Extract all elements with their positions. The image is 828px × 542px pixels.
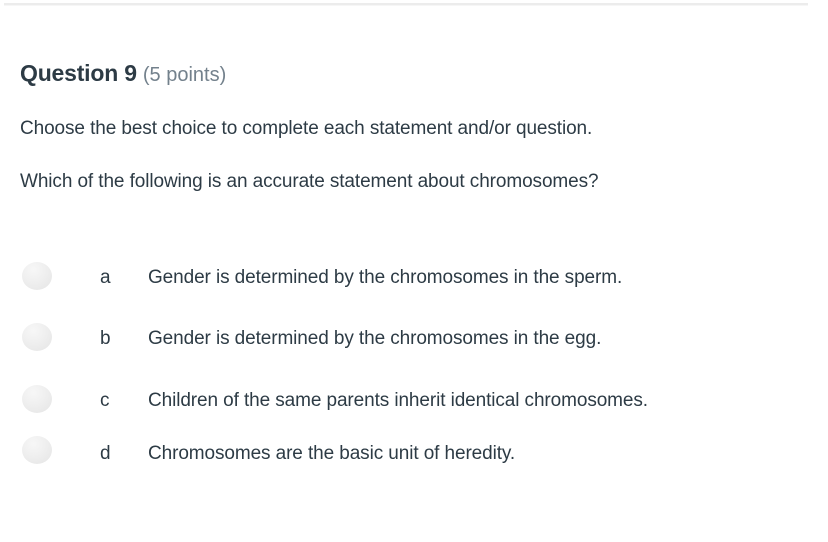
answer-option-a[interactable]: a Gender is determined by the chromosome… [0,256,828,301]
question-points: (5 points) [143,64,226,86]
radio-unselected-icon[interactable] [22,262,52,290]
answer-text-b[interactable]: Gender is determined by the chromosomes … [148,317,809,353]
radio-unselected-icon[interactable] [22,385,52,413]
top-divider-shadow [4,5,808,6]
answer-option-c[interactable]: c Children of the same parents inherit i… [0,379,828,424]
radio-unselected-icon[interactable] [22,436,52,464]
question-title: Question 9 [20,60,137,86]
answer-letter-d: d [52,432,148,467]
radio-cell-a[interactable] [0,256,52,290]
answer-text-a[interactable]: Gender is determined by the chromosomes … [148,256,809,292]
radio-unselected-icon[interactable] [22,323,52,351]
question-prompt: Which of the following is an accurate st… [20,169,816,195]
answer-option-b[interactable]: b Gender is determined by the chromosome… [0,317,828,362]
answer-text-c[interactable]: Children of the same parents inherit ide… [148,379,809,415]
answer-options-list: a Gender is determined by the chromosome… [0,256,828,477]
question-instructions: Choose the best choice to complete each … [20,116,816,142]
radio-cell-c[interactable] [0,379,52,413]
answer-option-d[interactable]: d Chromosomes are the basic unit of here… [0,432,828,477]
answer-text-d[interactable]: Chromosomes are the basic unit of heredi… [148,432,809,468]
radio-cell-d[interactable] [0,432,52,464]
radio-cell-b[interactable] [0,317,52,351]
answer-letter-a: a [52,256,148,291]
question-header: Question 9(5 points) [20,58,816,90]
answer-letter-c: c [52,379,148,414]
question-block: Question 9(5 points) Choose the best cho… [20,58,816,195]
answer-letter-b: b [52,317,148,352]
